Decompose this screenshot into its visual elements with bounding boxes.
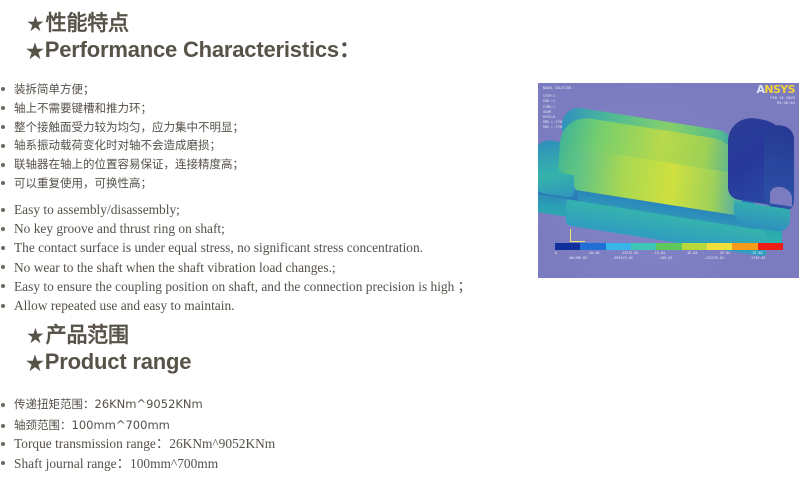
list-item-text: No wear to the shaft when the shaft vibr… xyxy=(14,260,336,275)
product-range-bullets-en: Torque transmission range：26KNm^9052KNm … xyxy=(0,434,275,473)
tick-label: .1E-03 xyxy=(685,251,718,255)
list-item: Easy to ensure the coupling position on … xyxy=(0,277,471,296)
list-item-text: 轴系振动载荷变化时对轴不会造成磨损； xyxy=(14,138,221,152)
colorbar-band xyxy=(732,243,757,250)
tick-label: .23227E-03 xyxy=(704,256,750,260)
tick-label: .2E-04 xyxy=(718,251,751,255)
product-range-heading-cn-text: 产品范围 xyxy=(46,323,129,347)
bullet-dot-icon xyxy=(1,144,5,148)
ansys-viewport: NODAL SOLUTION STEP=1 SUB =1 TIME=1 USUM… xyxy=(538,83,799,278)
list-item-text: 轴颈范围：100mm^700mm xyxy=(14,418,170,432)
list-item: Shaft journal range：100mm^700mm xyxy=(0,454,275,474)
list-item: 轴颈范围：100mm^700mm xyxy=(0,415,203,436)
list-item-text: The contact surface is under equal stres… xyxy=(14,240,423,255)
list-item-text: Easy to ensure the coupling position on … xyxy=(14,279,471,294)
colorbar-band xyxy=(758,243,783,250)
list-item: Allow repeated use and easy to maintain. xyxy=(0,296,471,315)
bullet-dot-icon xyxy=(1,125,5,129)
bullet-dot-icon xyxy=(1,461,5,465)
list-item: Easy to assembly/disassembly; xyxy=(0,200,471,219)
tick-label: .1327E-03 xyxy=(620,251,653,255)
colorbar-ticks-upper: 0 .8e-04 .1327E-03 .1E-04 .1E-03 .2E-04 … xyxy=(555,251,783,255)
section-performance-characteristics: ★性能特点 ★Performance Characteristics： 装拆简单… xyxy=(0,10,530,64)
list-item: 传递扭矩范围：26KNm^9052KNm xyxy=(0,394,203,415)
list-item-text: Torque transmission range：26KNm^9052KNm xyxy=(14,436,275,451)
bullet-dot-icon xyxy=(1,442,5,446)
section-product-range: ★产品范围 ★Product range 传递扭矩范围：26KNm^9052KN… xyxy=(0,322,530,376)
list-item: No key groove and thrust ring on shaft; xyxy=(0,219,471,238)
list-item-text: 联轴器在轴上的位置容易保证，连接精度高； xyxy=(14,157,244,171)
tick-label: .16E-03 xyxy=(658,256,704,260)
list-item-text: 传递扭矩范围：26KNm^9052KNm xyxy=(14,397,203,411)
product-range-heading-block: ★产品范围 ★Product range xyxy=(0,322,530,376)
colorbar-ticks-lower: .40119E-04 .99147E-04 .16E-03 .23227E-03… xyxy=(555,256,795,260)
list-item-text: Shaft journal range：100mm^700mm xyxy=(14,456,218,471)
tick-label: 0 xyxy=(555,251,588,255)
list-item: 装拆简单方便； xyxy=(0,80,244,99)
ansys-simulation-image: NODAL SOLUTION STEP=1 SUB =1 TIME=1 USUM… xyxy=(538,83,799,278)
bullet-dot-icon xyxy=(1,246,5,250)
list-item: 轴系振动载荷变化时对轴不会造成磨损； xyxy=(0,136,244,155)
ansys-colorbar: 0 .8e-04 .1327E-03 .1E-04 .1E-03 .2E-04 … xyxy=(555,243,783,262)
list-item: The contact surface is under equal stres… xyxy=(0,238,471,257)
tick-label: .40119E-04 xyxy=(567,256,613,260)
bullet-dot-icon xyxy=(1,163,5,167)
bullet-dot-icon xyxy=(1,106,5,110)
colorbar-band xyxy=(606,243,631,250)
list-item-text: Allow repeated use and easy to maintain. xyxy=(14,298,235,313)
bullet-dot-icon xyxy=(1,227,5,231)
performance-heading-en-text: Performance Characteristics： xyxy=(45,37,361,62)
tick-label: .8e-04 xyxy=(588,251,621,255)
list-item-text: No key groove and thrust ring on shaft; xyxy=(14,221,225,236)
bullet-dot-icon xyxy=(1,265,5,269)
colorbar-band xyxy=(631,243,656,250)
bullet-dot-icon xyxy=(1,284,5,288)
tick-label: .279E-03 xyxy=(749,256,795,260)
tick-label: .1E-04 xyxy=(653,251,686,255)
star-icon: ★ xyxy=(26,42,44,62)
performance-bullets-cn: 装拆简单方便； 轴上不需要键槽和推力环； 整个接触面受力较为均匀，应力集中不明显… xyxy=(0,80,244,193)
product-range-heading-en: ★Product range xyxy=(26,348,530,376)
list-item: 可以重复使用，可换性高； xyxy=(0,174,244,193)
performance-bullets-en: Easy to assembly/disassembly; No key gro… xyxy=(0,200,471,315)
list-item: 轴上不需要键槽和推力环； xyxy=(0,99,244,118)
list-item-text: 装拆简单方便； xyxy=(14,82,95,96)
bullet-dot-icon xyxy=(1,403,5,407)
performance-heading-en: ★Performance Characteristics： xyxy=(26,36,530,64)
performance-heading-block: ★性能特点 ★Performance Characteristics： xyxy=(0,10,530,64)
product-range-heading-cn: ★产品范围 xyxy=(26,322,530,348)
performance-heading-cn-text: 性能特点 xyxy=(46,11,129,35)
list-item: Torque transmission range：26KNm^9052KNm xyxy=(0,434,275,454)
star-icon: ★ xyxy=(26,14,45,35)
axis-triad-icon xyxy=(570,229,585,242)
colorbar-band xyxy=(580,243,605,250)
list-item: 联轴器在轴上的位置容易保证，连接精度高； xyxy=(0,155,244,174)
colorbar-gradient xyxy=(555,243,783,250)
star-icon: ★ xyxy=(26,326,45,347)
list-item-text: Easy to assembly/disassembly; xyxy=(14,202,180,217)
text-column: ★性能特点 ★Performance Characteristics： 装拆简单… xyxy=(0,0,530,477)
bullet-dot-icon xyxy=(1,304,5,308)
list-item-text: 轴上不需要键槽和推力环； xyxy=(14,101,152,115)
bullet-dot-icon xyxy=(1,87,5,91)
star-icon: ★ xyxy=(26,354,44,374)
product-range-heading-en-text: Product range xyxy=(45,349,192,374)
performance-heading-cn: ★性能特点 xyxy=(26,10,530,36)
colorbar-band xyxy=(682,243,707,250)
colorbar-ticks: 0 .8e-04 .1327E-03 .1E-04 .1E-03 .2E-04 … xyxy=(555,250,783,262)
list-item: 整个接触面受力较为均匀，应力集中不明显； xyxy=(0,118,244,137)
list-item-text: 整个接触面受力较为均匀，应力集中不明显； xyxy=(14,120,244,134)
colorbar-band xyxy=(656,243,681,250)
tick-label: .99147E-04 xyxy=(613,256,659,260)
bullet-dot-icon xyxy=(1,181,5,185)
colorbar-band xyxy=(555,243,580,250)
bullet-dot-icon xyxy=(1,424,5,428)
bullet-dot-icon xyxy=(1,208,5,212)
product-range-bullets-cn: 传递扭矩范围：26KNm^9052KNm 轴颈范围：100mm^700mm xyxy=(0,394,203,436)
list-item: No wear to the shaft when the shaft vibr… xyxy=(0,258,471,277)
list-item-text: 可以重复使用，可换性高； xyxy=(14,176,152,190)
tick-label: .2E-04 xyxy=(750,251,783,255)
colorbar-band xyxy=(707,243,732,250)
